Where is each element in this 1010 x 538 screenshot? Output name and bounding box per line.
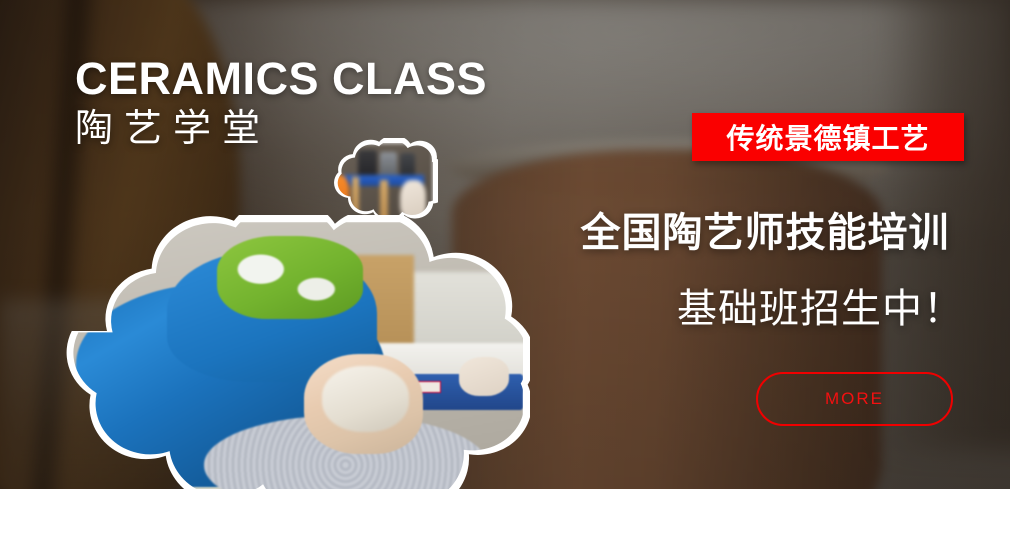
ceramics-class-banner: CERAMICS CLASS 陶艺学堂 [0, 0, 1010, 538]
bottom-white-band [0, 489, 1010, 538]
title-english: CERAMICS CLASS [75, 56, 487, 102]
subheadline: 基础班招生中！ [566, 276, 964, 334]
title-chinese: 陶艺学堂 [75, 109, 487, 151]
cloud-photo-pottery-wheel [60, 215, 530, 505]
title-block: CERAMICS CLASS 陶艺学堂 [75, 56, 487, 151]
more-button[interactable]: MORE [756, 372, 953, 426]
headline: 全国陶艺师技能培训 [566, 200, 964, 258]
tradition-badge: 传统景德镇工艺 [692, 113, 964, 161]
tradition-badge-label: 传统景德镇工艺 [726, 117, 929, 157]
